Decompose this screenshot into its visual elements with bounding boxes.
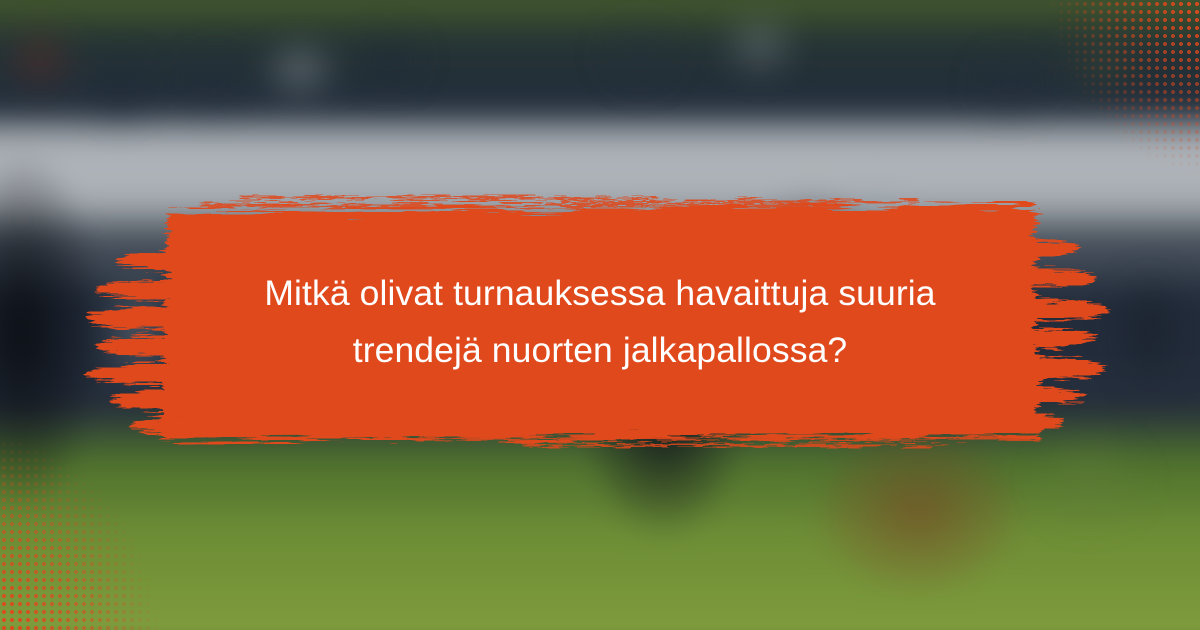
- social-share-card: Mitkä olivat turnauksessa havaittuja suu…: [0, 0, 1200, 630]
- headline-line-2: trendejä nuorten jalkapallossa?: [353, 322, 848, 379]
- headline: Mitkä olivat turnauksessa havaittuja suu…: [0, 186, 1200, 458]
- headline-line-1: Mitkä olivat turnauksessa havaittuja suu…: [264, 265, 935, 322]
